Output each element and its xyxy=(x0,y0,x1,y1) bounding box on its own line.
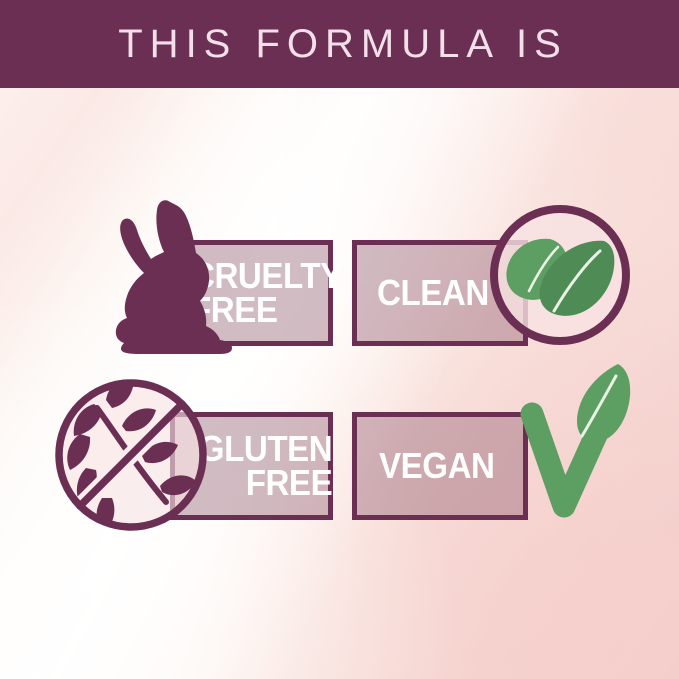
badge-clean: CLEAN xyxy=(352,240,528,346)
badge-label-clean: CLEAN xyxy=(377,276,489,310)
badge-gluten-free: GLUTEN FREE xyxy=(170,412,333,520)
page-title: THIS FORMULA IS xyxy=(111,24,568,64)
background-diagonal-sheen xyxy=(0,0,679,679)
badge-vegan: VEGAN xyxy=(352,412,528,520)
badge-cruelty-free: CRUELTY FREE xyxy=(170,240,333,346)
header-banner: THIS FORMULA IS xyxy=(0,0,679,88)
badge-label-cruelty-free: CRUELTY FREE xyxy=(191,259,342,327)
badge-label-vegan: VEGAN xyxy=(379,449,494,483)
formula-claims-graphic: THIS FORMULA IS CRUELTY FREE CLEAN GLUTE… xyxy=(0,0,679,679)
badge-label-gluten-free: GLUTEN FREE xyxy=(199,432,332,500)
